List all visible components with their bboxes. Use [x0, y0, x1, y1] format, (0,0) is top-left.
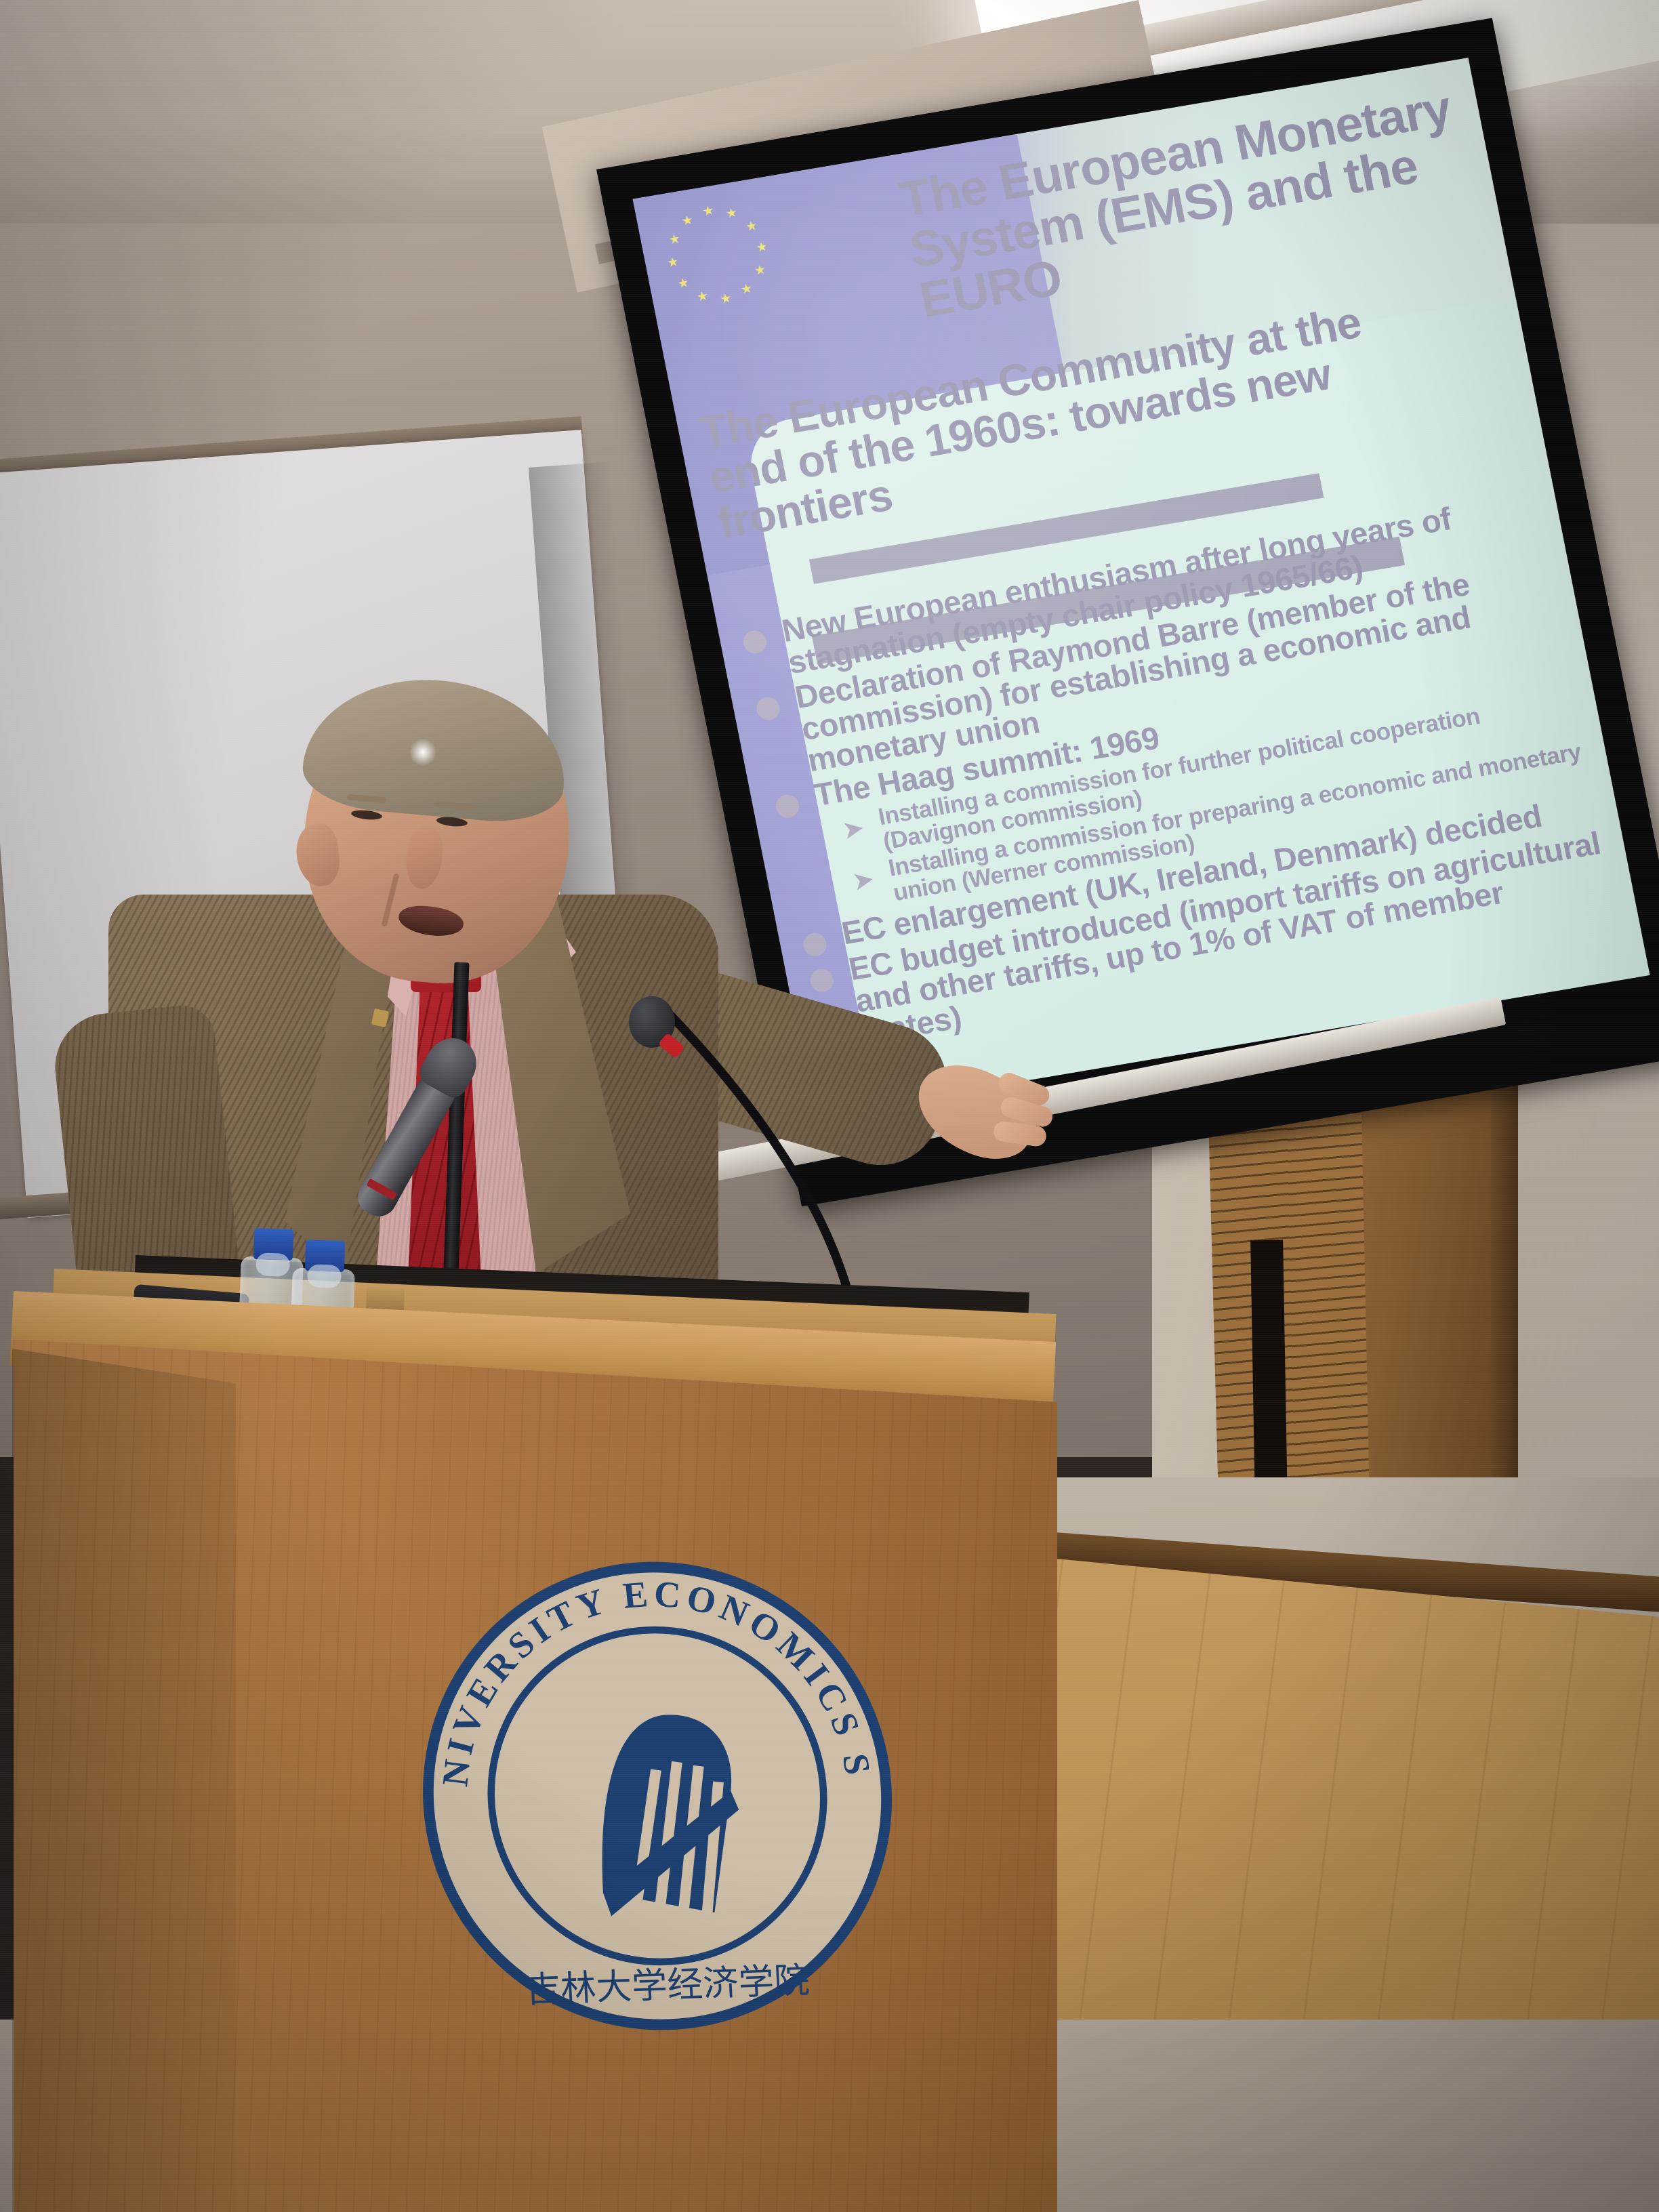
- podium-side-facet: [12, 1349, 236, 2212]
- arrow-bullet-icon: ➤: [840, 815, 867, 844]
- european-union-flag-icon: ★ ★ ★ ★ ★ ★ ★ ★ ★ ★ ★ ★: [657, 197, 777, 314]
- jilin-university-emblem: JILIN UNIVERSITY ECONOMICS SCHOOL 吉林大学经济…: [407, 1544, 907, 2047]
- bottle-neck: [255, 1252, 290, 1277]
- emblem-svg: JILIN UNIVERSITY ECONOMICS SCHOOL 吉林大学经济…: [407, 1544, 907, 2047]
- bottle-neck: [307, 1264, 342, 1288]
- wall-light-reflection: [409, 739, 436, 766]
- lecture-hall-photo: ★ ★ ★ ★ ★ ★ ★ ★ ★ ★ ★ ★ The Europe: [0, 0, 1659, 2212]
- arrow-bullet-icon: ➤: [851, 866, 877, 895]
- bullet-dot-icon: [741, 629, 769, 655]
- microphone-ring: [366, 1179, 397, 1201]
